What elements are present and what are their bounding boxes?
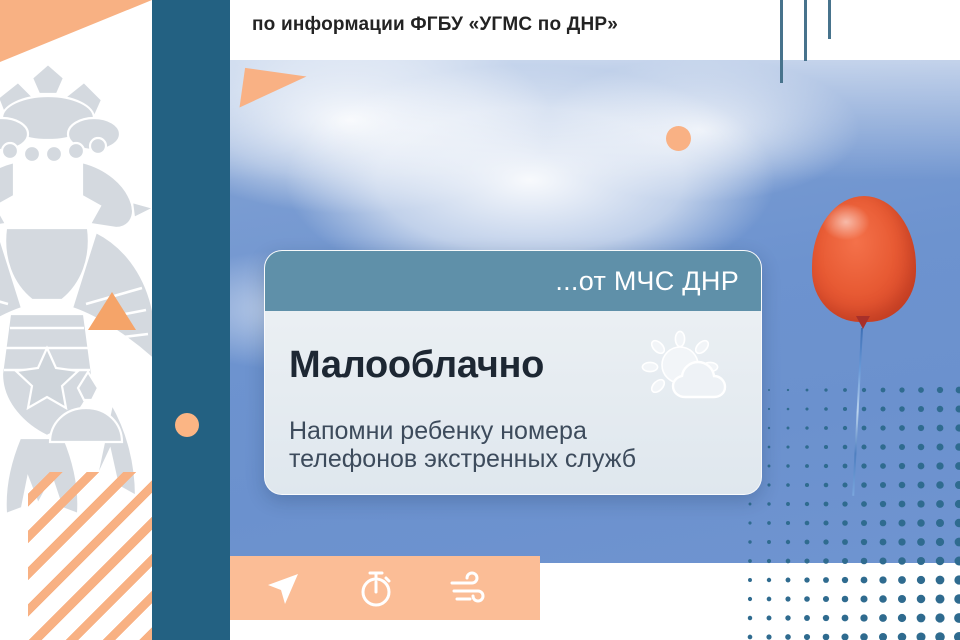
weather-card-body: Малооблачно: [265, 311, 761, 494]
weather-card-header: ...от МЧС ДНР: [265, 251, 761, 311]
teal-vertical-bar: [152, 0, 230, 640]
orange-triangle-left-icon: [88, 292, 136, 330]
source-attribution-text: по информации ФГБУ «УГМС по ДНР»: [252, 14, 618, 36]
emercom-eagle-emblem-icon: [0, 52, 152, 522]
card-attribution-text: ...от МЧС ДНР: [555, 266, 739, 297]
wind-icon[interactable]: [448, 568, 488, 608]
weather-metrics-strip: [230, 556, 540, 620]
orange-circle-decor-icon: [666, 126, 691, 151]
weather-condition-title: Малооблачно: [289, 346, 544, 384]
safety-advice-text: Напомни ребенку номера телефонов экстрен…: [289, 417, 737, 473]
orange-diagonal-stripes-decor: [28, 472, 152, 640]
balloon-knot-icon: [856, 316, 870, 329]
orange-dot-decor-icon: [175, 413, 199, 437]
corner-bracket-decor-icon: [780, 0, 960, 102]
left-decor-panel: [0, 0, 152, 640]
advice-line-1: Напомни ребенку номера: [289, 417, 737, 445]
weather-poster: по информации ФГБУ «УГМС по ДНР»: [0, 0, 960, 640]
navigation-arrow-icon[interactable]: [264, 568, 304, 608]
weather-card: ...от МЧС ДНР Малооблачно: [264, 250, 762, 495]
sun-behind-cloud-icon: [639, 327, 731, 403]
balloon-body-icon: [812, 196, 916, 322]
orange-triangle-decor-icon: [240, 68, 307, 116]
advice-line-2: телефонов экстренных служб: [289, 445, 737, 473]
stopwatch-pressure-icon[interactable]: [356, 568, 396, 608]
halftone-dot-pattern: [744, 384, 960, 640]
